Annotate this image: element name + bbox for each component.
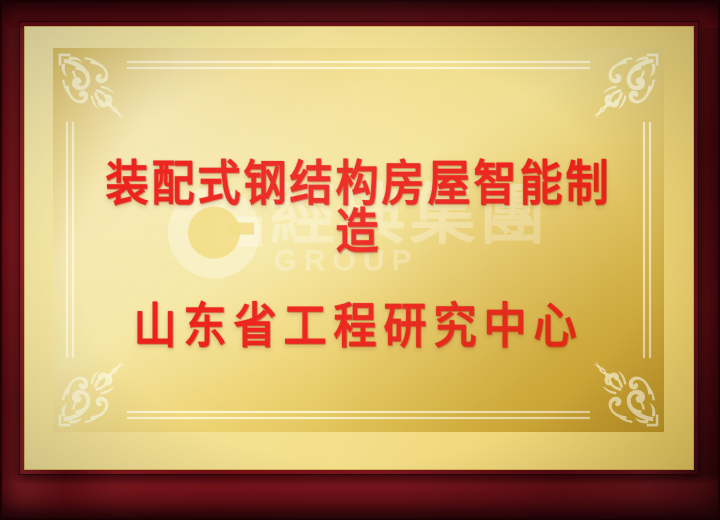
- watermark-chinese-text: 經典集團: [270, 186, 550, 247]
- corner-flourish-icon-bottom-left: [57, 344, 141, 428]
- pinstripe-rule-right-outer: [649, 122, 651, 358]
- corner-flourish-icon-top-right: [576, 52, 660, 136]
- pinstripe-rule-top-inner: [127, 67, 590, 69]
- corner-flourish-icon-top-left: [57, 52, 141, 136]
- corner-flourish-icon-bottom-right: [576, 344, 660, 428]
- brushed-gold-plate: 經典集團 GROUP 装配式钢结构房屋智能制造 山东省工程研究中心: [53, 48, 664, 432]
- inscription-line-2: 山东省工程研究中心: [91, 303, 626, 351]
- award-plaque-photo: 經典集團 GROUP 装配式钢结构房屋智能制造 山东省工程研究中心: [0, 0, 720, 520]
- watermark-english-text: GROUP: [274, 245, 419, 279]
- cream-gold-mount: 經典集團 GROUP 装配式钢结构房屋智能制造 山东省工程研究中心: [24, 26, 694, 470]
- pinstripe-rule-bottom-inner: [127, 411, 590, 413]
- classic-group-logo-icon: [168, 186, 260, 278]
- pinstripe-rule-top-outer: [127, 61, 590, 63]
- award-inscription: 装配式钢结构房屋智能制造 山东省工程研究中心: [91, 166, 626, 349]
- inscription-line-1: 装配式钢结构房屋智能制造: [91, 161, 626, 257]
- pinstripe-rule-bottom-outer: [127, 417, 590, 419]
- pinstripe-rule-left-outer: [66, 122, 68, 358]
- pinstripe-rule-left-inner: [72, 122, 74, 358]
- frame-bottom-rail: [0, 474, 720, 520]
- company-watermark: 經典集團 GROUP: [53, 186, 664, 279]
- pinstripe-rule-right-inner: [643, 122, 645, 358]
